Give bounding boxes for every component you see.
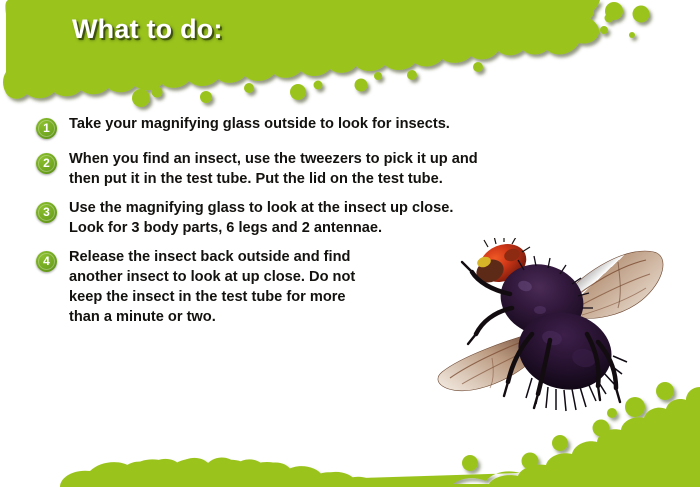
list-item: 3 Use the magnifying glass to look at th…	[36, 198, 656, 238]
splash-droplet	[462, 455, 478, 471]
step-number-badge: 1	[36, 118, 57, 139]
splash-droplet	[244, 83, 254, 93]
splash-droplet	[629, 32, 635, 38]
splash-droplet	[132, 89, 150, 107]
splash-droplet	[355, 79, 368, 92]
footer-splash-mound	[60, 459, 392, 487]
splash-droplet	[593, 420, 610, 437]
footer-splash-path-lower	[80, 457, 700, 487]
splash-droplet	[501, 19, 509, 27]
page-title: What to do:	[72, 14, 223, 45]
splash-droplet	[443, 31, 452, 40]
step-text: Take your magnifying glass outside to lo…	[69, 114, 656, 134]
step-text: When you find an insect, use the tweezer…	[69, 149, 656, 189]
step-number-badge: 2	[36, 153, 57, 174]
splash-droplet	[531, 16, 541, 26]
splash-droplet	[633, 6, 650, 23]
housefly-photograph	[432, 238, 690, 418]
splash-droplet	[473, 62, 483, 72]
splash-droplet	[605, 2, 623, 20]
splash-droplet	[473, 21, 486, 34]
splash-droplet	[600, 26, 608, 34]
step-number-badge: 3	[36, 202, 57, 223]
splash-droplet	[407, 70, 417, 80]
splash-droplet	[152, 87, 163, 98]
worksheet-page: What to do: 1 Take your magnifying glass…	[0, 0, 700, 487]
splash-droplet	[605, 14, 614, 23]
splash-droplet	[576, 2, 594, 20]
list-item: 2 When you find an insect, use the tweez…	[36, 149, 656, 189]
splash-droplet	[290, 84, 306, 100]
splash-droplet	[400, 26, 411, 37]
step-text: Use the magnifying glass to look at the …	[69, 198, 656, 238]
splash-droplet	[371, 29, 389, 47]
splash-droplet	[522, 453, 539, 470]
splash-droplet	[200, 91, 212, 103]
splash-droplet	[552, 435, 568, 451]
list-item: 1 Take your magnifying glass outside to …	[36, 114, 656, 140]
step-number-badge: 4	[36, 251, 57, 272]
splash-droplet	[314, 81, 323, 90]
splash-droplet	[374, 72, 382, 80]
